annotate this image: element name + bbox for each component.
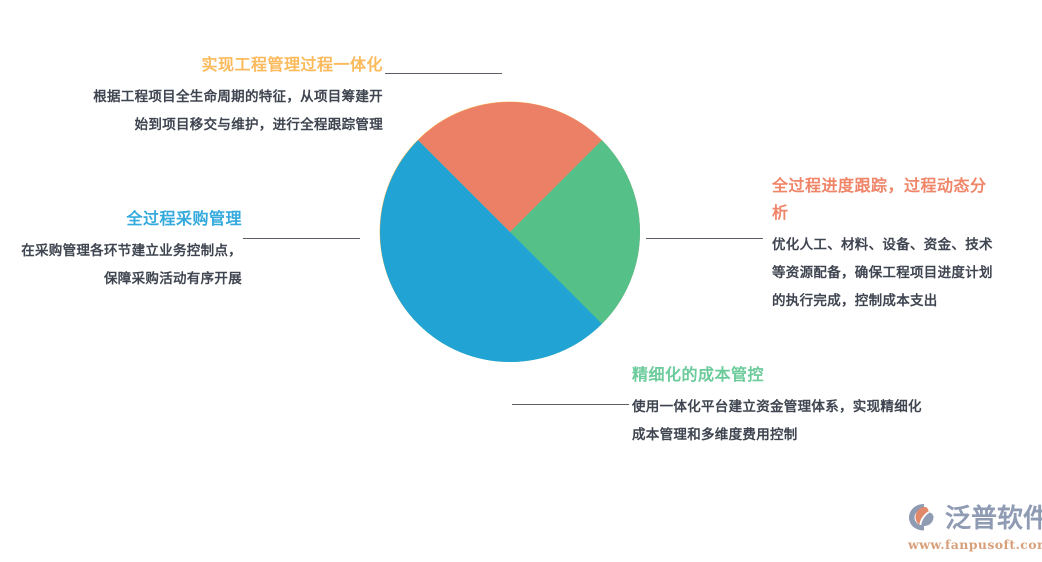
- brand-logo: 泛普软件 www.fanpusoft.com: [908, 502, 1034, 554]
- logo-row: 泛普软件: [908, 502, 1034, 536]
- fanpu-logo-icon: [908, 502, 942, 536]
- connector-line-right: [646, 238, 763, 239]
- feature-body-procurement: 在采购管理各环节建立业务控制点，保障采购活动有序开展: [10, 237, 242, 293]
- feature-body-integration: 根据工程项目全生命周期的特征，从项目筹建开始到项目移交与维护，进行全程跟踪管理: [88, 83, 383, 139]
- feature-block-integration: 实现工程管理过程一体化 根据工程项目全生命周期的特征，从项目筹建开始到项目移交与…: [88, 52, 383, 139]
- feature-title-procurement: 全过程采购管理: [10, 206, 242, 232]
- feature-title-progress: 全过程进度跟踪，过程动态分析: [772, 172, 997, 226]
- feature-block-progress: 全过程进度跟踪，过程动态分析 优化人工、材料、设备、资金、技术等资源配备，确保工…: [772, 172, 997, 315]
- logo-website-url: www.fanpusoft.com: [908, 537, 1034, 552]
- feature-title-cost: 精细化的成本管控: [632, 362, 932, 388]
- feature-body-cost: 使用一体化平台建立资金管理体系，实现精细化成本管理和多维度费用控制: [632, 393, 932, 449]
- feature-block-cost: 精细化的成本管控 使用一体化平台建立资金管理体系，实现精细化成本管理和多维度费用…: [632, 362, 932, 449]
- connector-line-top: [385, 73, 502, 74]
- connector-line-left: [243, 238, 360, 239]
- logo-wordmark: 泛普软件: [945, 504, 1042, 534]
- connector-line-bottom: [512, 404, 629, 405]
- infographic-canvas: 实现工程管理过程一体化 根据工程项目全生命周期的特征，从项目筹建开始到项目移交与…: [0, 0, 1042, 562]
- feature-block-procurement: 全过程采购管理 在采购管理各环节建立业务控制点，保障采购活动有序开展: [10, 206, 242, 293]
- feature-title-integration: 实现工程管理过程一体化: [88, 52, 383, 78]
- feature-body-progress: 优化人工、材料、设备、资金、技术等资源配备，确保工程项目进度计划的执行完成，控制…: [772, 231, 997, 315]
